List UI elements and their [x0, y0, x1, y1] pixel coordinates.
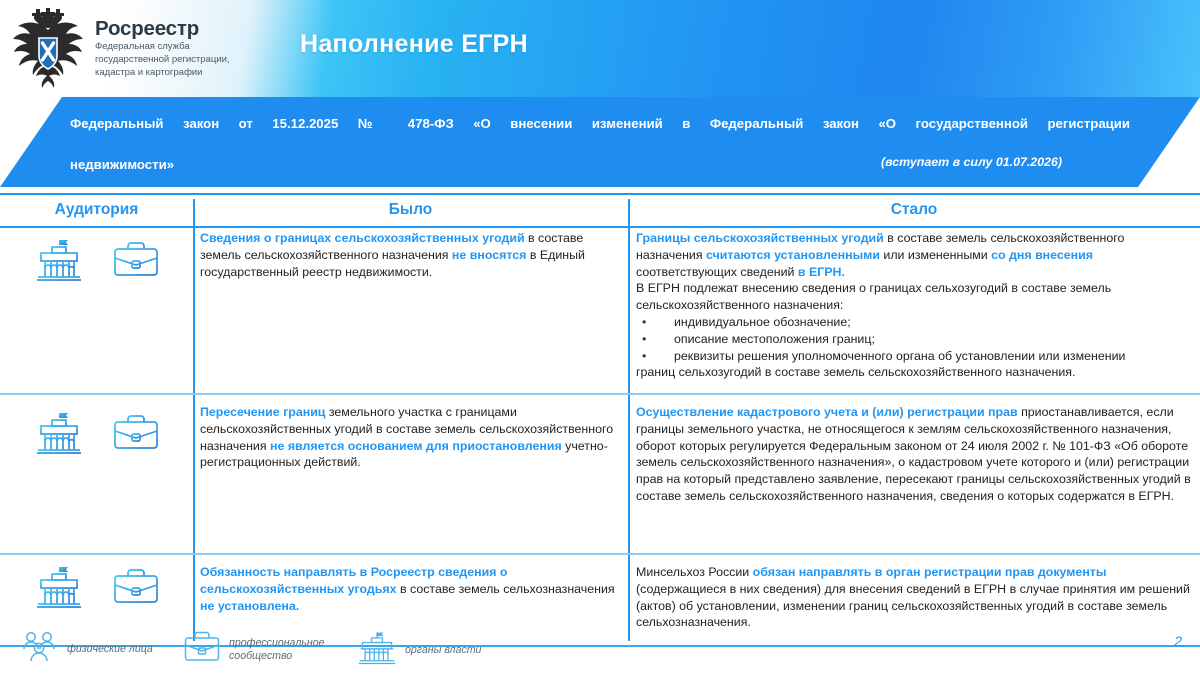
legend-item-authorities: органы власти: [356, 629, 481, 672]
page-number: 2: [1174, 633, 1182, 649]
cell-after-3-seg-1: обязан направлять в орган регистрации пр…: [753, 565, 1107, 579]
law-banner: Федеральный закон от 15.12.2025 № 478-ФЗ…: [0, 97, 1200, 187]
list-item: реквизиты решения уполномоченного органа…: [636, 348, 1192, 365]
slide-footer: физические лица профессиональное сообщес…: [0, 627, 1200, 675]
people-icon: [20, 630, 60, 669]
cell-after-2: Осуществление кадастрового учета и (или)…: [636, 404, 1192, 505]
cell-after-2-seg-0: Осуществление кадастрового учета и (или)…: [636, 405, 1018, 419]
page-title: Наполнение ЕГРН: [300, 30, 528, 59]
slide-root: Росреестр Федеральная служба государстве…: [0, 0, 1200, 675]
logo-subtitle-line-3: кадастра и картографии: [95, 67, 230, 80]
government-building-icon: [356, 629, 398, 672]
column-header-before: Было: [193, 201, 628, 219]
cell-before-2-seg-0: Пересечение границ: [200, 405, 329, 419]
comparison-table: Аудитория Было Стало: [0, 193, 1200, 641]
cell-before-1-seg-2: не вносятся: [452, 248, 530, 262]
cell-before-3-seg-2: не установлена.: [200, 599, 299, 613]
legend-label-authorities: органы власти: [405, 644, 481, 657]
law-effective-date: (вступает в силу 01.07.2026): [881, 155, 1062, 169]
logo-title: Росреестр: [95, 18, 230, 40]
briefcase-icon: [111, 566, 161, 613]
cell-after-1-seg-0: Границы сельскохозяйственных угодий: [636, 231, 887, 245]
logo-subtitle-line-1: Федеральная служба: [95, 41, 230, 54]
cell-after-3-seg-2: (содержащиеся в них сведения) для внесен…: [636, 582, 1190, 630]
cell-after-1-seg-4: со дня внесения: [991, 248, 1093, 262]
law-reference-line-1: Федеральный закон от 15.12.2025 № 478-ФЗ…: [70, 114, 1130, 155]
briefcase-icon: [111, 239, 161, 286]
cell-before-1: Сведения о границах сельскохозяйственных…: [200, 230, 620, 280]
logo-subtitle: Федеральная служба государственной регис…: [95, 41, 230, 79]
cell-before-3-seg-1: в составе земель сельхозназначения: [400, 582, 615, 596]
table-row-separator-2: [0, 553, 1200, 555]
double-headed-eagle-emblem: [10, 8, 86, 90]
table-header-underline: [0, 226, 1200, 228]
government-building-icon: [33, 564, 85, 615]
rosreestr-logo: Росреестр Федеральная служба государстве…: [10, 6, 280, 91]
logo-subtitle-line-2: государственной регистрации,: [95, 54, 230, 67]
table-divider-1: [193, 199, 195, 641]
cell-after-1: Границы сельскохозяйственных угодий в со…: [636, 230, 1192, 381]
cell-before-3: Обязанность направлять в Росреестр сведе…: [200, 564, 620, 614]
cell-before-1-seg-0: Сведения о границах сельскохозяйственных…: [200, 231, 528, 245]
footer-divider: [0, 645, 1200, 647]
cell-after-1-paragraph-2: В ЕГРН подлежат внесению сведения о гран…: [636, 280, 1192, 314]
cell-after-1-seg-6: в ЕГРН.: [798, 265, 845, 279]
legend-label-professional-community: профессиональное сообщество: [229, 637, 325, 663]
legend-item-professional-community: профессиональное сообщество: [182, 627, 325, 672]
table-row: [0, 237, 193, 288]
government-building-icon: [33, 410, 85, 461]
briefcase-icon: [182, 627, 222, 672]
cell-after-3-seg-0: Минсельхоз России: [636, 565, 753, 579]
legend-label-individuals: физические лица: [67, 643, 153, 656]
table-row: [0, 410, 193, 461]
cell-after-3: Минсельхоз России обязан направлять в ор…: [636, 564, 1192, 631]
cell-after-1-seg-2: считаются установленными: [706, 248, 883, 262]
table-divider-2: [628, 199, 630, 641]
briefcase-icon: [111, 412, 161, 459]
table-top-border: [0, 193, 1200, 195]
legend-item-individuals: физические лица: [20, 630, 153, 669]
table-row-separator-1: [0, 393, 1200, 395]
cell-before-2: Пересечение границ земельного участка с …: [200, 404, 620, 471]
column-header-audience: Аудитория: [0, 201, 193, 219]
table-row: [0, 564, 193, 615]
list-item: описание местоположения границ;: [636, 331, 1192, 348]
cell-after-2-seg-1: приостанавливается, если границы земельн…: [636, 405, 1191, 503]
cell-after-1-bullet-tail: границ сельхозугодий в составе земель се…: [636, 364, 1192, 381]
column-header-after: Стало: [628, 201, 1200, 219]
cell-after-1-bullets: индивидуальное обозначение; описание мес…: [636, 314, 1192, 364]
cell-before-2-seg-2: не является основанием для приостановлен…: [270, 439, 565, 453]
cell-after-1-seg-3: или измененными: [883, 248, 991, 262]
slide-header: Росреестр Федеральная служба государстве…: [0, 0, 1200, 97]
cell-after-1-seg-5: соответствующих сведений: [636, 265, 798, 279]
government-building-icon: [33, 237, 85, 288]
list-item: индивидуальное обозначение;: [636, 314, 1192, 331]
